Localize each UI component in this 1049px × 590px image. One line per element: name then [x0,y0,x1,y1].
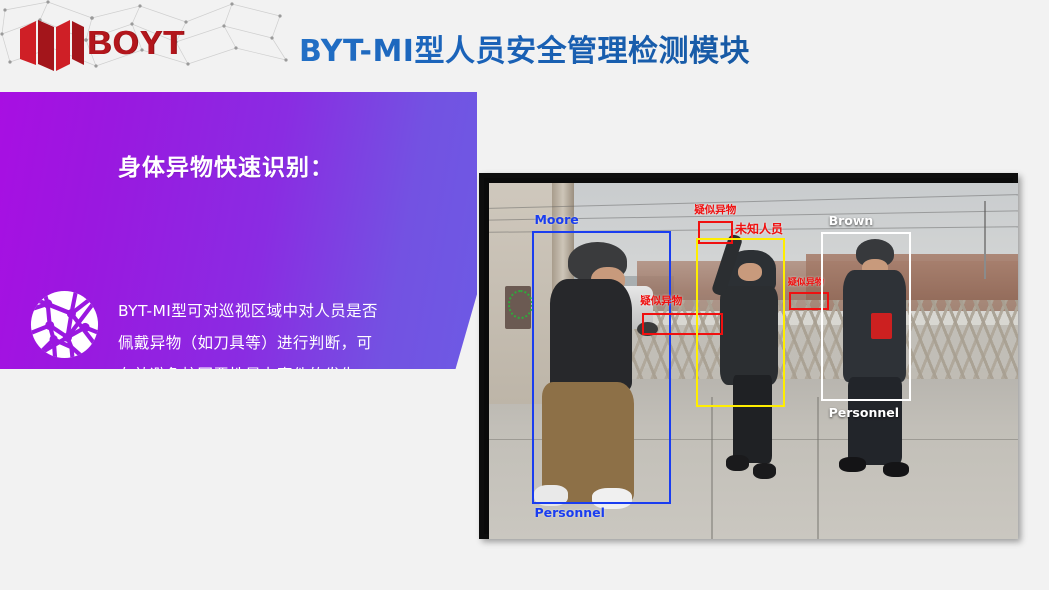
detection-box-person-unknown[interactable] [696,238,785,407]
detection-label-object-raised-top: 疑似异物 [694,202,736,217]
detection-box-person-brown[interactable] [821,232,911,401]
detection-label-object-held-left: 疑似异物 [640,293,682,308]
scene-ground-seam-3 [817,397,819,539]
detection-photo: Moore Personnel 疑似异物 疑似异物 未知人员 疑似异物 Brow… [489,183,1018,539]
network-globe-icon [28,288,101,361]
panel-heading: 身体异物快速识别： [118,148,334,182]
detection-label-brown-bottom: Personnel [829,405,899,420]
detection-label-moore-top: Moore [534,212,578,227]
panel-body-line-1: BYT-MI型可对巡视区域中对人员是否 [118,295,438,327]
page-header: BOYT BYT-MI型人员安全管理检测模块 [0,0,1049,88]
scene-utility-pole [984,201,986,279]
feature-panel: 身体异物快速识别： BYT-MI型可对巡视区域中对人员是否 佩戴异物（如刀具等）… [0,92,477,369]
detection-label-moore-bottom: Personnel [534,505,604,520]
detection-label-unknown-top: 未知人员 [735,220,783,237]
detection-photo-frame: Moore Personnel 疑似异物 疑似异物 未知人员 疑似异物 Brow… [479,173,1018,539]
panel-body: BYT-MI型可对巡视区域中对人员是否 佩戴异物（如刀具等）进行判断，可 有效避… [118,295,438,391]
panel-body-line-3: 有效避免校园恶性暴力事件的发生。 [118,359,438,391]
detection-label-object-held-right: 疑似异物 [788,275,824,288]
panel-body-line-2: 佩戴异物（如刀具等）进行判断，可 [118,327,438,359]
detection-label-brown-top: Brown [829,213,874,228]
page-title: BYT-MI型人员安全管理检测模块 [0,26,1049,70]
detection-box-person-moore[interactable] [532,231,671,503]
scene-led-ring [508,290,533,319]
